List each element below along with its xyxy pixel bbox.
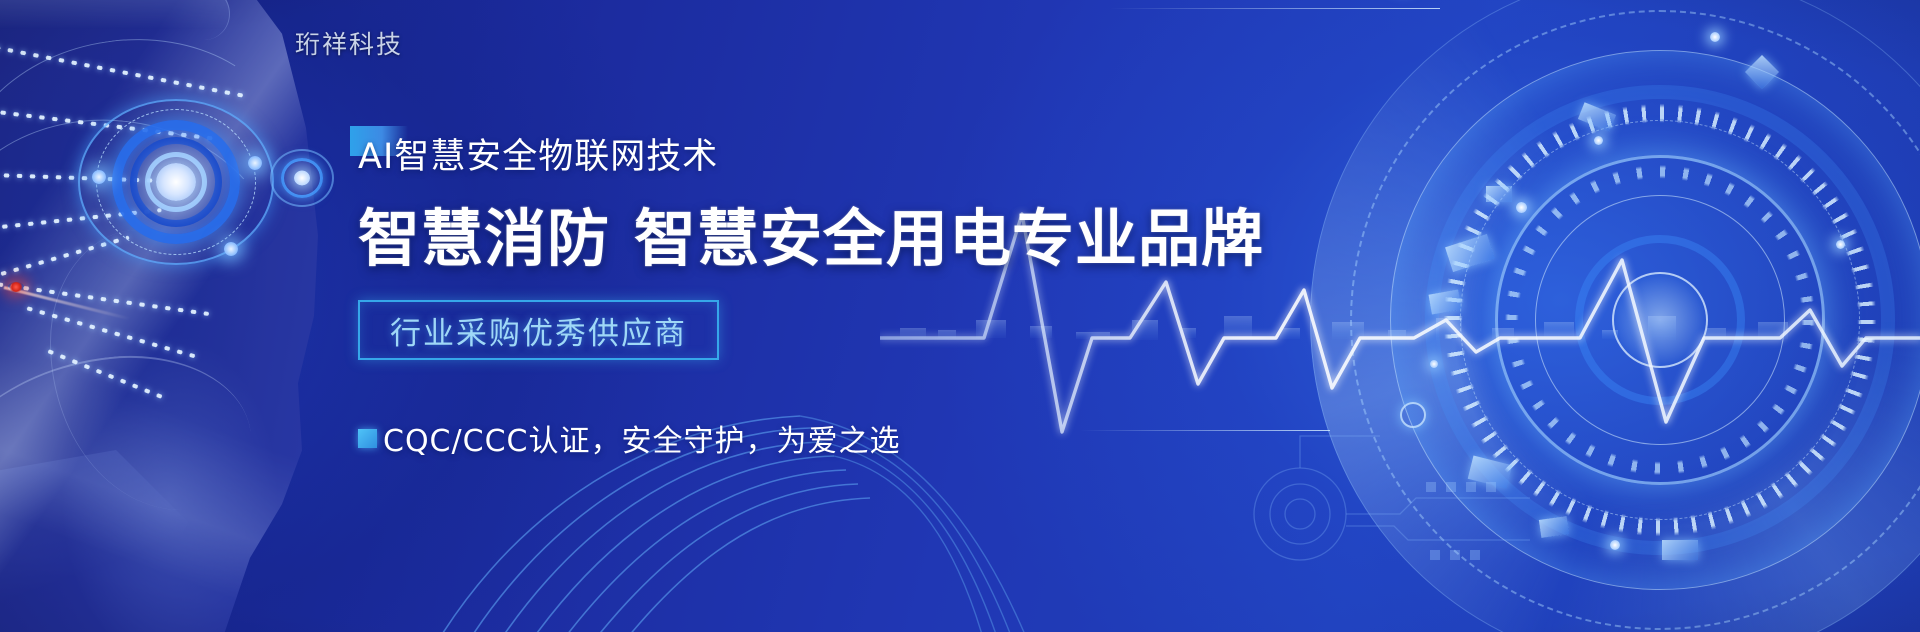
hero-subtitle: AI智慧安全物联网技术 xyxy=(358,137,718,177)
square-bullet-icon xyxy=(358,429,377,448)
eye-core xyxy=(156,163,196,201)
glowing-eye-icon xyxy=(106,112,246,252)
hud-dot xyxy=(1710,32,1720,42)
hud-chip xyxy=(1662,540,1698,560)
hud-dot xyxy=(1594,136,1603,145)
eye-core xyxy=(294,171,310,186)
hud-dot xyxy=(1610,540,1620,550)
eye-glow-dot xyxy=(248,156,262,170)
headline-left: 智慧消防 xyxy=(358,188,610,278)
hero-banner: 珩祥科技 AI智慧安全物联网技术 智慧消防 智慧安全用电专业品牌 行业采购优秀供… xyxy=(0,0,1920,632)
secondary-eye-icon xyxy=(270,146,334,210)
hero-tagline: CQC/CCC认证，安全守护，为爱之选 xyxy=(383,416,900,460)
supplier-badge-label: 行业采购优秀供应商 xyxy=(390,308,687,353)
eye-glow-dot xyxy=(224,242,238,256)
hud-leader-line xyxy=(1110,8,1440,9)
circuit-motif-icon xyxy=(1230,422,1560,612)
brand-logo-text[interactable]: 珩祥科技 xyxy=(295,25,403,61)
red-led-indicator-icon xyxy=(8,282,24,292)
headline-right: 智慧安全用电专业品牌 xyxy=(634,188,1264,278)
eye-glow-dot xyxy=(92,170,106,184)
tagline-row: CQC/CCC认证，安全守护，为爱之选 xyxy=(358,416,1258,460)
hero-headline: 智慧消防 智慧安全用电专业品牌 xyxy=(358,188,1258,278)
robot-head-graphic xyxy=(0,0,340,632)
supplier-badge[interactable]: 行业采购优秀供应商 xyxy=(358,300,719,360)
subtitle-row: AI智慧安全物联网技术 xyxy=(358,128,1258,174)
hero-content: AI智慧安全物联网技术 智慧消防 智慧安全用电专业品牌 行业采购优秀供应商 CQ… xyxy=(358,128,1258,460)
head-plate xyxy=(0,0,230,40)
